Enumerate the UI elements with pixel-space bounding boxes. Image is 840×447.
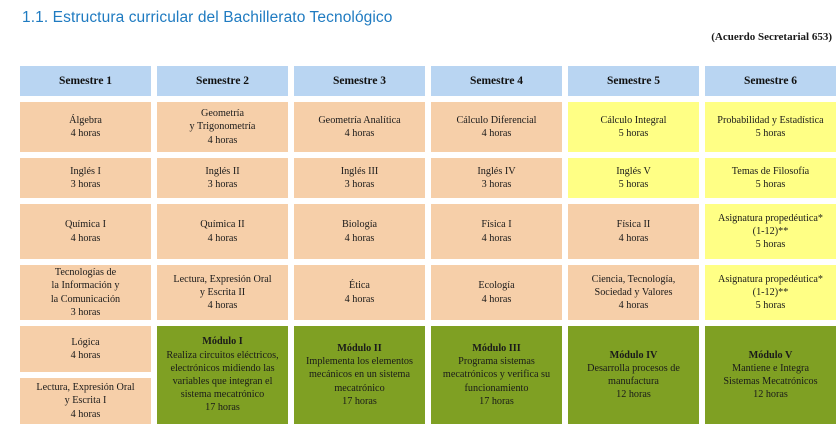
module-description-line: variables que integran el bbox=[173, 375, 273, 388]
subject-name-line: Química II bbox=[200, 218, 244, 231]
cell-hours: 4 horas bbox=[619, 232, 649, 245]
semester-header-4[interactable]: Semestre 4 bbox=[431, 66, 562, 96]
subject-cell[interactable]: Tecnologías dela Información yla Comunic… bbox=[20, 265, 151, 320]
subject-cell[interactable]: Inglés IV3 horas bbox=[431, 158, 562, 198]
subject-cell[interactable]: Ciencia, Tecnología,Sociedad y Valores4 … bbox=[568, 265, 699, 320]
module-description-line: funcionamiento bbox=[465, 382, 529, 395]
cell-hours: 3 horas bbox=[71, 306, 101, 319]
semester-column-4: Semestre 4Cálculo Diferencial4 horasIngl… bbox=[431, 66, 562, 424]
subject-cell[interactable]: Temas de Filosofía5 horas bbox=[705, 158, 836, 198]
subject-name-line: y Escrita II bbox=[200, 286, 245, 299]
subject-name-line: Asignatura propedéutica* bbox=[718, 273, 823, 286]
subject-cell[interactable]: Álgebra4 horas bbox=[20, 102, 151, 152]
subject-cell[interactable]: Lógica4 horas bbox=[20, 326, 151, 372]
subject-name-line: Tecnologías de bbox=[55, 266, 116, 279]
cell-hours: 5 horas bbox=[619, 127, 649, 140]
subject-cell[interactable]: Cálculo Integral5 horas bbox=[568, 102, 699, 152]
cell-hours: 3 horas bbox=[482, 178, 512, 191]
subject-cell[interactable]: Biología4 horas bbox=[294, 204, 425, 259]
subject-name-line: Química I bbox=[65, 218, 106, 231]
subject-cell[interactable]: Cálculo Diferencial4 horas bbox=[431, 102, 562, 152]
page-title: 1.1. Estructura curricular del Bachiller… bbox=[22, 9, 393, 27]
cell-hours: 4 horas bbox=[345, 293, 375, 306]
subject-cell[interactable]: Inglés I3 horas bbox=[20, 158, 151, 198]
subject-name-line: Probabilidad y Estadística bbox=[717, 114, 823, 127]
subject-name-line: Cálculo Integral bbox=[601, 114, 667, 127]
subject-name-line: Álgebra bbox=[69, 114, 102, 127]
subject-name-line: y Escrita I bbox=[65, 394, 107, 407]
subject-name-line: Lógica bbox=[71, 336, 99, 349]
subject-name-line: Inglés V bbox=[616, 165, 651, 178]
cell-hours: 5 horas bbox=[756, 178, 786, 191]
semester-header-3[interactable]: Semestre 3 bbox=[294, 66, 425, 96]
subject-cell[interactable]: Inglés V5 horas bbox=[568, 158, 699, 198]
subject-cell[interactable]: Lectura, Expresión Oraly Escrita I4 hora… bbox=[20, 378, 151, 424]
cell-hours: 4 horas bbox=[71, 232, 101, 245]
subject-name-line: Temas de Filosofía bbox=[732, 165, 809, 178]
subject-cell[interactable]: Física II4 horas bbox=[568, 204, 699, 259]
subject-name-line: Lectura, Expresión Oral bbox=[36, 381, 134, 394]
module-description-line: electrónicos midiendo las bbox=[170, 362, 274, 375]
cell-hours: 5 horas bbox=[756, 127, 786, 140]
subject-name-line: Biología bbox=[342, 218, 377, 231]
cell-hours: 4 horas bbox=[71, 127, 101, 140]
subject-name-line: Geometría bbox=[201, 107, 244, 120]
subject-name-line: Ciencia, Tecnología, bbox=[592, 273, 676, 286]
subject-cell[interactable]: Inglés II3 horas bbox=[157, 158, 288, 198]
subject-cell[interactable]: Probabilidad y Estadística5 horas bbox=[705, 102, 836, 152]
subject-name-line: Cálculo Diferencial bbox=[456, 114, 536, 127]
subject-name-line: y Trigonometría bbox=[190, 120, 256, 133]
module-title: Módulo V bbox=[749, 349, 793, 362]
subject-name-line: (1-12)** bbox=[753, 286, 789, 299]
cell-hours: 17 horas bbox=[479, 395, 514, 408]
cell-hours: 5 horas bbox=[619, 178, 649, 191]
semester-header-5[interactable]: Semestre 5 bbox=[568, 66, 699, 96]
module-cell[interactable]: Módulo IVDesarrolla procesos demanufactu… bbox=[568, 326, 699, 424]
semester-header-2[interactable]: Semestre 2 bbox=[157, 66, 288, 96]
acuerdo-secretarial-note: (Acuerdo Secretarial 653) bbox=[711, 31, 832, 43]
subject-cell[interactable]: Geometríay Trigonometría4 horas bbox=[157, 102, 288, 152]
module-cell[interactable]: Módulo IIIPrograma sistemasmecatrónicos … bbox=[431, 326, 562, 424]
cell-hours: 4 horas bbox=[208, 134, 238, 147]
semester-column-2: Semestre 2Geometríay Trigonometría4 hora… bbox=[157, 66, 288, 424]
subject-cell[interactable]: Asignatura propedéutica*(1-12)**5 horas bbox=[705, 204, 836, 259]
subject-name-line: Inglés I bbox=[70, 165, 101, 178]
semester-column-6: Semestre 6Probabilidad y Estadística5 ho… bbox=[705, 66, 836, 424]
module-title: Módulo III bbox=[472, 342, 520, 355]
cell-hours: 4 horas bbox=[345, 232, 375, 245]
cell-hours: 4 horas bbox=[482, 232, 512, 245]
subject-cell[interactable]: Química II4 horas bbox=[157, 204, 288, 259]
subject-cell[interactable]: Inglés III3 horas bbox=[294, 158, 425, 198]
subject-name-line: Inglés IV bbox=[477, 165, 515, 178]
cell-hours: 4 horas bbox=[482, 127, 512, 140]
module-cell[interactable]: Módulo VMantiene e IntegraSistemas Mecat… bbox=[705, 326, 836, 424]
semester-header-6[interactable]: Semestre 6 bbox=[705, 66, 836, 96]
module-description-line: Desarrolla procesos de bbox=[587, 362, 680, 375]
module-description-line: Mantiene e Integra bbox=[732, 362, 809, 375]
semester-column-3: Semestre 3Geometría Analítica4 horasIngl… bbox=[294, 66, 425, 424]
curriculum-grid: Semestre 1Álgebra4 horasInglés I3 horasQ… bbox=[20, 66, 836, 424]
cell-hours: 12 horas bbox=[753, 388, 788, 401]
module-title: Módulo I bbox=[202, 335, 242, 348]
subject-cell[interactable]: Asignatura propedéutica*(1-12)**5 horas bbox=[705, 265, 836, 320]
module-description-line: Implementa los elementos bbox=[306, 355, 413, 368]
subject-name-line: Física II bbox=[617, 218, 651, 231]
cell-hours: 5 horas bbox=[756, 299, 786, 312]
subject-cell[interactable]: Química I4 horas bbox=[20, 204, 151, 259]
subject-name-line: la Comunicación bbox=[51, 293, 120, 306]
module-description-line: Sistemas Mecatrónicos bbox=[723, 375, 817, 388]
subject-name-line: Física I bbox=[481, 218, 511, 231]
subject-name-line: Lectura, Expresión Oral bbox=[173, 273, 271, 286]
cell-hours: 3 horas bbox=[208, 178, 238, 191]
subject-cell[interactable]: Ética4 horas bbox=[294, 265, 425, 320]
subject-name-line: Ecología bbox=[478, 279, 514, 292]
subject-cell[interactable]: Ecología4 horas bbox=[431, 265, 562, 320]
cell-hours: 4 horas bbox=[71, 349, 101, 362]
module-description-line: Programa sistemas bbox=[458, 355, 535, 368]
subject-name-line: (1-12)** bbox=[753, 225, 789, 238]
cell-hours: 4 horas bbox=[619, 299, 649, 312]
module-cell[interactable]: Módulo IIImplementa los elementosmecánic… bbox=[294, 326, 425, 424]
cell-hours: 5 horas bbox=[756, 238, 786, 251]
semester-column-5: Semestre 5Cálculo Integral5 horasInglés … bbox=[568, 66, 699, 424]
cell-hours: 4 horas bbox=[345, 127, 375, 140]
subject-name-line: Geometría Analítica bbox=[318, 114, 400, 127]
module-cell[interactable]: Módulo IRealiza circuitos eléctricos,ele… bbox=[157, 326, 288, 424]
cell-hours: 4 horas bbox=[208, 232, 238, 245]
subject-name-line: Ética bbox=[349, 279, 370, 292]
module-description-line: mecánicos en un sistema bbox=[309, 368, 410, 381]
semester-header-1[interactable]: Semestre 1 bbox=[20, 66, 151, 96]
module-title: Módulo II bbox=[337, 342, 381, 355]
module-description-line: manufactura bbox=[608, 375, 659, 388]
module-title: Módulo IV bbox=[610, 349, 658, 362]
subject-cell[interactable]: Geometría Analítica4 horas bbox=[294, 102, 425, 152]
subject-cell[interactable]: Lectura, Expresión Oraly Escrita II4 hor… bbox=[157, 265, 288, 320]
subject-name-line: Sociedad y Valores bbox=[595, 286, 673, 299]
module-description-line: Realiza circuitos eléctricos, bbox=[166, 349, 278, 362]
subject-cell[interactable]: Física I4 horas bbox=[431, 204, 562, 259]
module-description-line: mecatrónicos y verifica su bbox=[443, 368, 550, 381]
cell-hours: 4 horas bbox=[482, 293, 512, 306]
subject-name-line: Asignatura propedéutica* bbox=[718, 212, 823, 225]
subject-name-line: Inglés II bbox=[205, 165, 239, 178]
cell-hours: 12 horas bbox=[616, 388, 651, 401]
cell-hours: 4 horas bbox=[208, 299, 238, 312]
cell-hours: 17 horas bbox=[205, 401, 240, 414]
cell-hours: 17 horas bbox=[342, 395, 377, 408]
module-description-line: sistema mecatrónico bbox=[181, 388, 264, 401]
semester-column-1: Semestre 1Álgebra4 horasInglés I3 horasQ… bbox=[20, 66, 151, 424]
subject-name-line: la Información y bbox=[52, 279, 120, 292]
cell-hours: 4 horas bbox=[71, 408, 101, 421]
cell-hours: 3 horas bbox=[345, 178, 375, 191]
subject-name-line: Inglés III bbox=[341, 165, 379, 178]
cell-hours: 3 horas bbox=[71, 178, 101, 191]
module-description-line: mecatrónico bbox=[334, 382, 384, 395]
